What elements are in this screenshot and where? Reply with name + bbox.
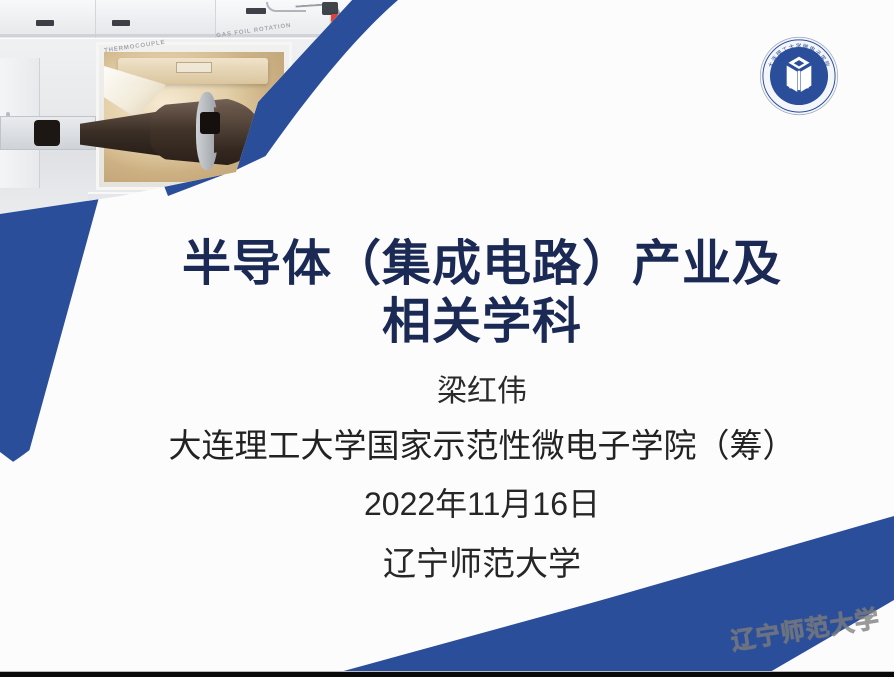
title-line-2: 相关学科 — [120, 294, 844, 352]
bottom-black-bar — [0, 672, 894, 677]
presentation-date: 2022年11月16日 — [120, 485, 844, 523]
page-title: 半导体（集成电路）产业及 相关学科 — [120, 236, 844, 352]
author-affiliation: 大连理工大学国家示范性微电子学院（筹） — [120, 426, 844, 466]
school-seal-logo: 大连理工大学微电子学院 SCHOOL OF MICROELECTRONICS — [755, 30, 843, 122]
title-text-block: 半导体（集成电路）产业及 相关学科 梁红伟 大连理工大学国家示范性微电子学院（筹… — [120, 236, 844, 583]
author-name: 梁红伟 — [120, 374, 844, 410]
cabinet-handle-icon — [112, 20, 130, 26]
cabinet-handle-icon — [36, 20, 54, 26]
presentation-venue: 辽宁师范大学 — [120, 544, 844, 584]
title-line-1: 半导体（集成电路）产业及 — [120, 236, 844, 294]
seal-emblem-book-icon — [787, 57, 812, 92]
presentation-title-slide: THERMOCOUPLE GAS FOIL ROTATION 大连理工大学微电子… — [0, 0, 894, 677]
cabinet-handle-icon — [246, 8, 266, 14]
